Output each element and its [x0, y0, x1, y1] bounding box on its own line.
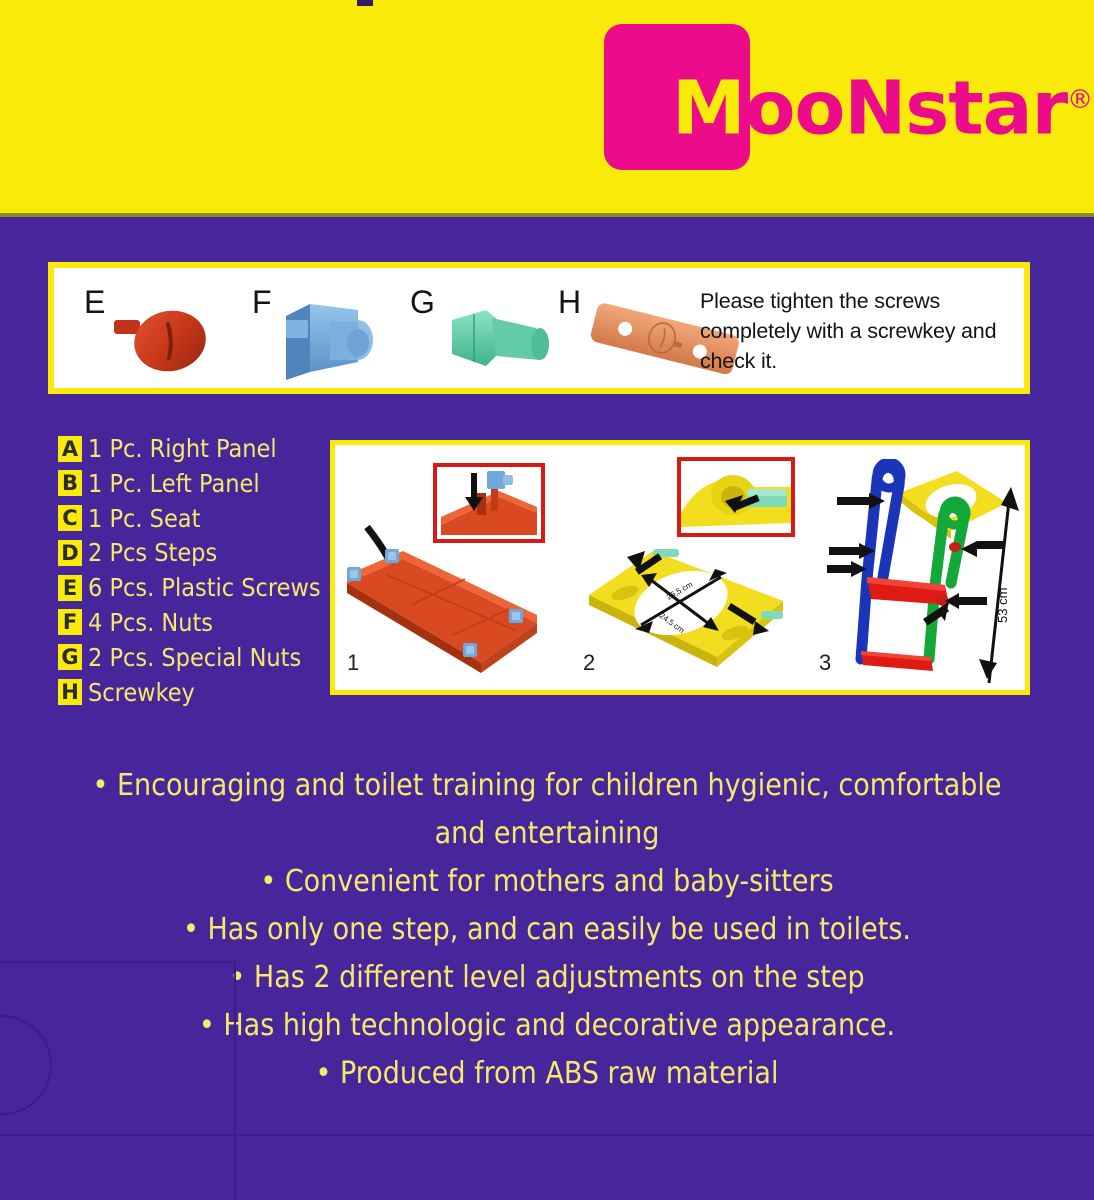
list-item: B1 Pc. Left Panel [58, 469, 328, 504]
feature-line-5: • Has high technologic and decorative ap… [40, 1002, 1054, 1050]
part-badge-g: G [58, 644, 82, 670]
part-badge-f: F [58, 609, 82, 635]
parts-list: A1 Pc. Right Panel B1 Pc. Left Panel C1 … [58, 434, 328, 712]
step2-seat-art [583, 535, 803, 685]
nut-icon [280, 296, 390, 391]
step3-assembly-art [827, 459, 1027, 687]
part-badge-e: E [58, 575, 82, 601]
part-label-e: 6 Pcs. Plastic Screws [88, 573, 321, 602]
part-label-g: 2 Pcs. Special Nuts [88, 643, 301, 672]
packaging-panel: MooNstar® E F [0, 0, 1094, 1200]
registered-mark-icon: ® [1067, 85, 1092, 115]
list-item: HScrewkey [58, 678, 328, 713]
assembly-diagram-box: 1 [330, 440, 1030, 695]
brand-letters-rest: ooNstar [745, 66, 1067, 152]
list-item: D2 Pcs Steps [58, 538, 328, 573]
part-label-c: 1 Pc. Seat [88, 504, 200, 533]
top-edge-notch [357, 0, 373, 6]
plastic-screw-icon [110, 300, 220, 387]
ghost-outline-bottom [0, 1134, 1094, 1136]
part-badge-a: A [58, 436, 82, 462]
step2-callout-frame [677, 457, 795, 537]
header-band-underline [0, 213, 1094, 217]
feature-line-1: • Encouraging and toilet training for ch… [77, 762, 1017, 858]
part-badge-b: B [58, 470, 82, 496]
step2-callout-art [681, 461, 791, 533]
ghost-outline-right [234, 961, 236, 1200]
part-letter-h: H [558, 284, 581, 321]
list-item: E6 Pcs. Plastic Screws [58, 573, 328, 608]
part-badge-c: C [58, 505, 82, 531]
part-letter-e: E [84, 284, 105, 321]
part-badge-d: D [58, 540, 82, 566]
ghost-outline-top [0, 961, 236, 963]
features-list: • Encouraging and toilet training for ch… [40, 762, 1054, 1098]
feature-line-6: • Produced from ABS raw material [40, 1050, 1054, 1098]
brand-letter-m: M [672, 66, 745, 152]
brand-wordmark: MooNstar® [672, 52, 1032, 148]
step1-panel-art [341, 515, 561, 685]
part-label-a: 1 Pc. Right Panel [88, 434, 277, 463]
dimension-label-ladder-height: 53 cm [995, 588, 1010, 623]
feature-line-3: • Has only one step, and can easily be u… [40, 906, 1054, 954]
list-item: F4 Pcs. Nuts [58, 608, 328, 643]
part-badge-h: H [58, 679, 82, 705]
part-label-f: 4 Pcs. Nuts [88, 608, 213, 637]
part-cell-e: E [76, 278, 236, 390]
part-label-h: Screwkey [88, 678, 195, 707]
part-letter-f: F [252, 284, 272, 321]
list-item: G2 Pcs. Special Nuts [58, 643, 328, 678]
part-cell-f: F [244, 278, 404, 390]
part-label-d: 2 Pcs Steps [88, 538, 217, 567]
feature-line-2: • Convenient for mothers and baby-sitter… [40, 858, 1054, 906]
part-label-b: 1 Pc. Left Panel [88, 469, 260, 498]
list-item: C1 Pc. Seat [58, 504, 328, 539]
list-item: A1 Pc. Right Panel [58, 434, 328, 469]
tighten-screws-note: Please tighten the screws completely wit… [700, 286, 1010, 376]
part-letter-g: G [410, 284, 435, 321]
